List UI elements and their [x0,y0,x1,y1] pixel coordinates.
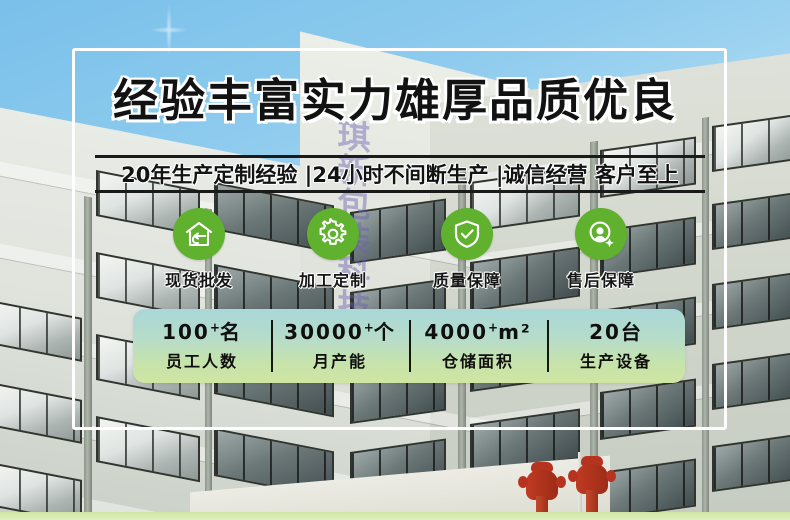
feature-label: 加工定制 [299,267,367,291]
banner-content: 经验丰富实力雄厚品质优良 20年生产定制经验 |24小时不间断生产 |诚信经营 … [0,0,790,520]
feature-label: 现货批发 [165,267,233,291]
promo-banner: 琪新包装科技有 经验丰富实力雄厚品质优良 20年生产定制经验 |24小时不间断生… [0,0,790,520]
stat-number: 100 [162,320,210,344]
stat-value: 20台 [589,321,643,344]
support-agent-icon [575,208,627,260]
feature-label: 售后保障 [567,267,635,291]
feature-list: 现货批发 加工定制 质量保障 [140,208,660,291]
feature-item-after-sales[interactable]: 售后保障 [542,208,660,291]
stat-unit: 名 [220,320,242,344]
stat-item-employees: 100+名 员工人数 [133,309,271,383]
stat-number: 20 [589,320,621,344]
stat-value: 4000+m² [424,321,531,344]
stat-number: 4000 [424,320,488,344]
stat-value: 100+名 [162,321,242,344]
stat-unit: m² [498,320,532,344]
stat-caption: 生产设备 [580,348,652,372]
stat-value: 30000+个 [284,321,396,344]
feature-item-wholesale[interactable]: 现货批发 [140,208,258,291]
stat-caption: 月产能 [313,348,367,372]
headline-title: 经验丰富实力雄厚品质优良 [0,64,790,129]
stat-plus: + [210,320,220,334]
shield-check-icon [441,208,493,260]
subtitle-rule-block: 20年生产定制经验 |24小时不间断生产 |诚信经营 客户至上 [95,155,705,193]
stat-caption: 员工人数 [166,348,238,372]
gear-icon [307,208,359,260]
subtitle-text: 20年生产定制经验 |24小时不间断生产 |诚信经营 客户至上 [121,159,679,189]
feature-label: 质量保障 [433,267,501,291]
stat-unit: 个 [374,320,396,344]
stats-panel: 100+名 员工人数 30000+个 月产能 4000+m² 仓储面积 20台 [133,309,685,383]
stat-number: 30000 [284,320,364,344]
feature-item-quality[interactable]: 质量保障 [408,208,526,291]
stat-item-monthly-capacity: 30000+个 月产能 [271,309,409,383]
stat-item-equipment: 20台 生产设备 [547,309,685,383]
stat-plus: + [364,320,374,334]
feature-item-customization[interactable]: 加工定制 [274,208,392,291]
stat-caption: 仓储面积 [442,348,514,372]
stat-plus: + [488,320,498,334]
warehouse-arrow-icon [173,208,225,260]
stat-item-warehouse-area: 4000+m² 仓储面积 [409,309,547,383]
stat-unit: 台 [621,320,643,344]
